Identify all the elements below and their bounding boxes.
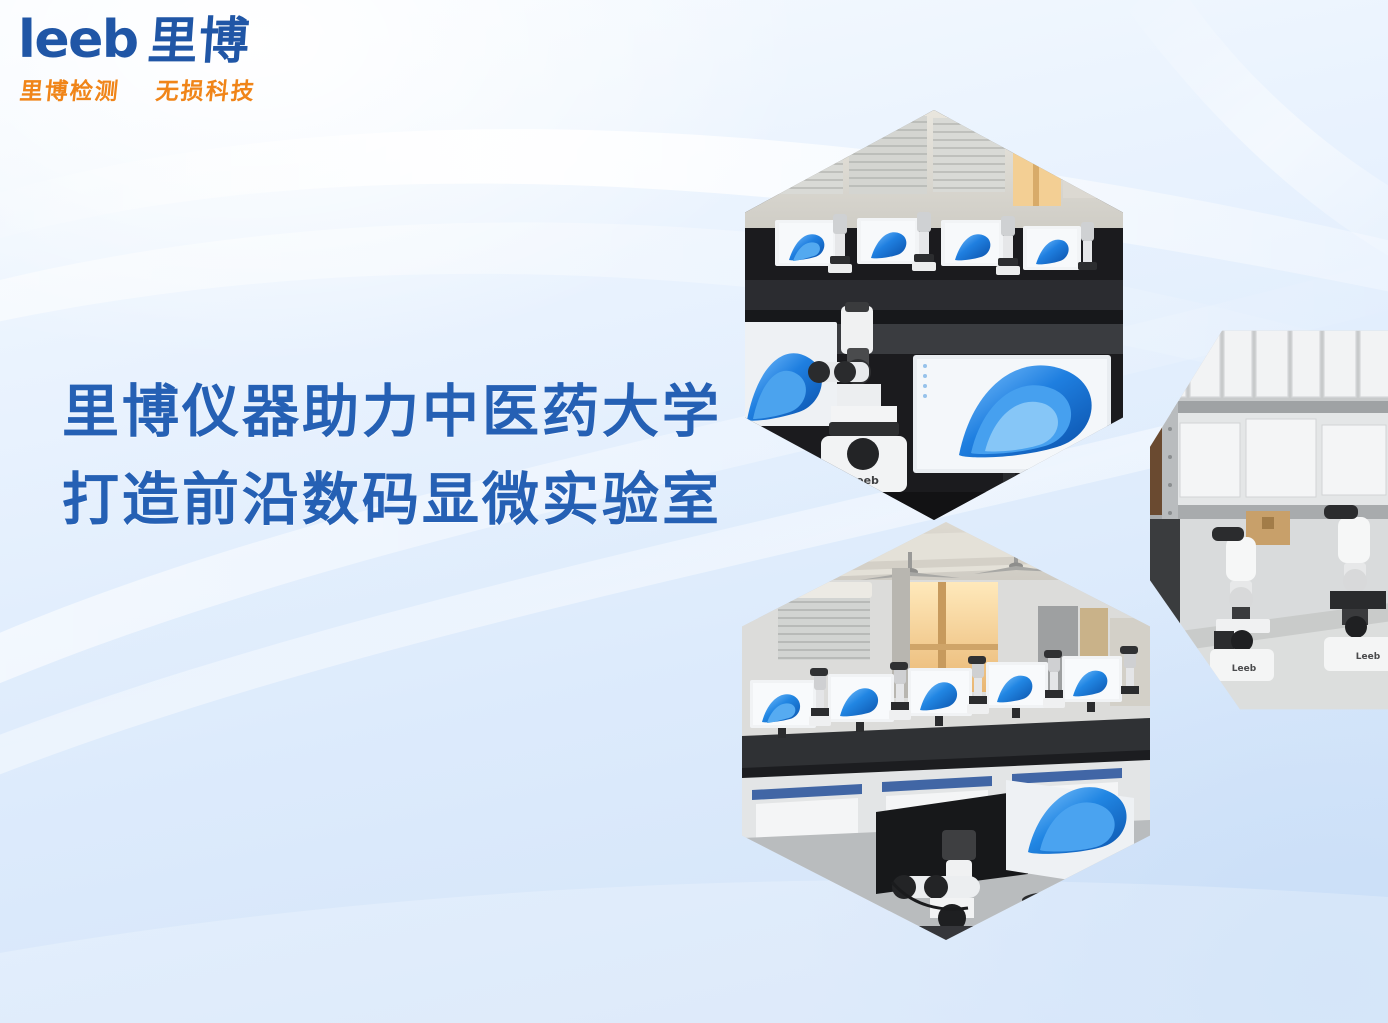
logo-tagline-right: 无损科技 (154, 79, 257, 105)
photo-hexagon-lab-overview: Leeb (745, 110, 1123, 520)
logo-wordmark-row: leeb 里博 (18, 14, 318, 66)
svg-text:Leeb: Leeb (1232, 664, 1257, 674)
banner-canvas: leeb 里博 里博检测 无损科技 里博仪器助力中医药大学 打造前沿数码显微实验… (0, 0, 1388, 1023)
svg-text:Leeb: Leeb (1356, 652, 1381, 662)
photo-image-classroom-row (742, 522, 1150, 940)
headline-line-2: 打造前沿数码显微实验室 (62, 456, 762, 544)
logo-latin-text: leeb (18, 14, 138, 66)
headline-line-1: 里博仪器助力中医药大学 (62, 368, 762, 456)
photo-image-lab-overview: Leeb (745, 110, 1123, 520)
photo-hexagon-classroom-row (742, 522, 1150, 940)
logo-tagline-left: 里博检测 (18, 79, 121, 105)
logo-tagline: 里博检测 无损科技 (18, 72, 320, 106)
photo-image-microscope-bench: Leeb Leeb (1150, 305, 1388, 735)
logo-chinese-text: 里博 (146, 16, 251, 66)
headline-block: 里博仪器助力中医药大学 打造前沿数码显微实验室 (62, 368, 762, 544)
brand-logo: leeb 里博 里博检测 无损科技 (18, 14, 318, 106)
photo-hexagon-microscope-bench: Leeb Leeb (1150, 305, 1388, 735)
svg-text:Leeb: Leeb (849, 474, 879, 487)
